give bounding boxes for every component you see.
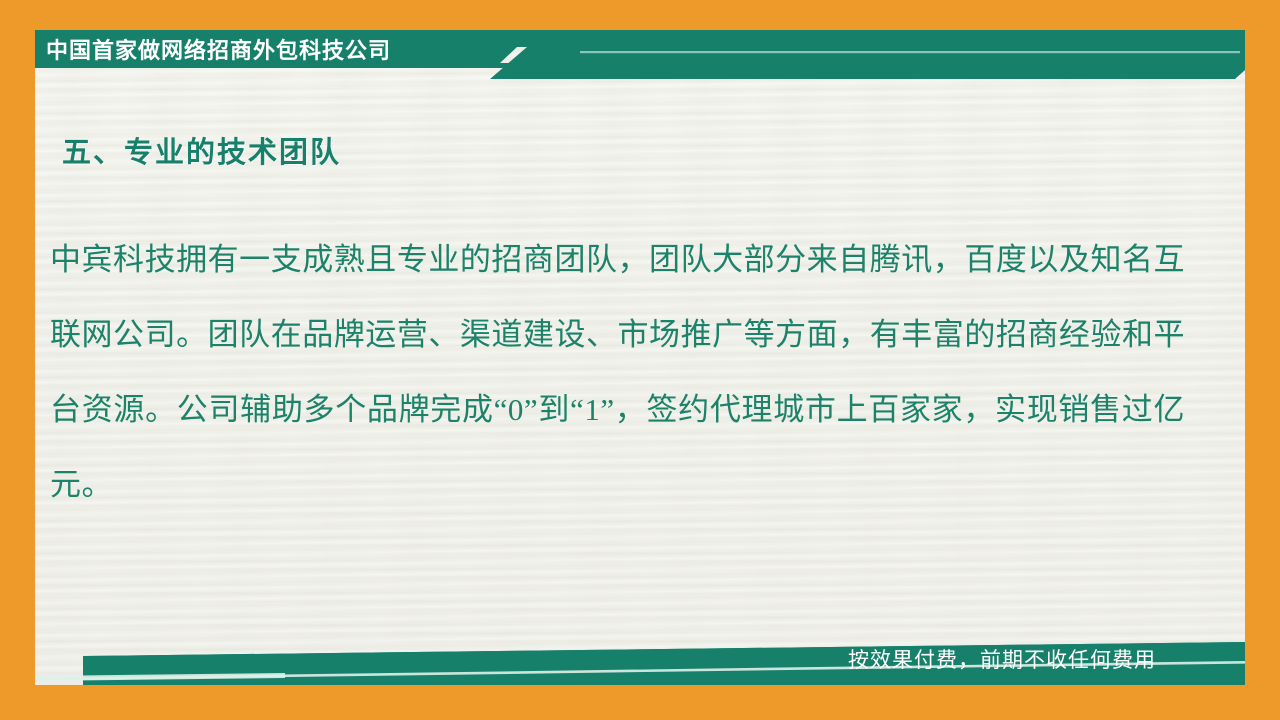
footer-tagline: 按效果付费，前期不收任何费用 (848, 647, 1156, 675)
slide-canvas: 中国首家做网络招商外包科技公司 五、专业的技术团队 中宾科技拥有一支成熟且专业的… (0, 0, 1280, 720)
body-paragraph: 中宾科技拥有一支成熟且专业的招商团队，团队大部分来自腾讯，百度以及知名互联网公司… (50, 222, 1185, 522)
header-title: 中国首家做网络招商外包科技公司 (46, 36, 391, 66)
page-title: 五、专业的技术团队 (62, 133, 341, 173)
